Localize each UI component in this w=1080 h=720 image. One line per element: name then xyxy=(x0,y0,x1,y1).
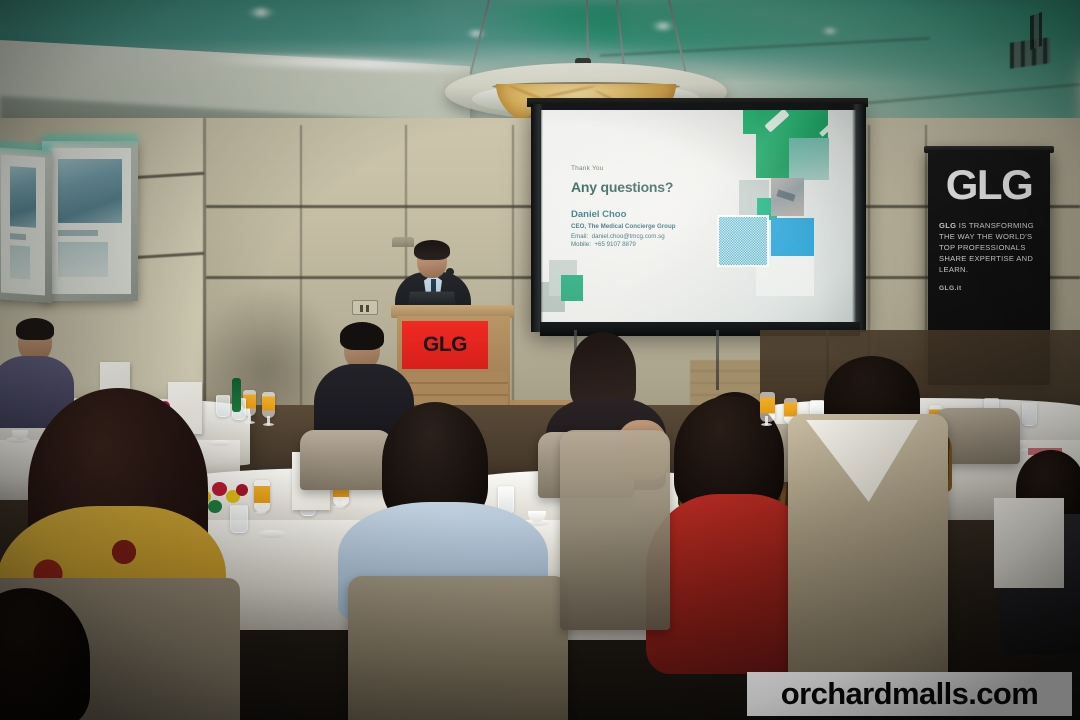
hair xyxy=(16,318,54,340)
art-mat xyxy=(49,148,131,294)
downlight xyxy=(246,8,276,17)
downlight xyxy=(820,28,840,34)
wall-outlet-plate xyxy=(352,300,378,315)
slide-email-label: Email: xyxy=(571,233,588,240)
slide-headline: Any questions? xyxy=(571,179,741,195)
framed-artwork xyxy=(42,141,138,301)
art-text-block xyxy=(58,242,108,277)
chandelier-cable xyxy=(470,0,490,74)
wall-speaker xyxy=(392,237,414,247)
slide-email-row: Email: daniel.choo@tmcg.com.sg xyxy=(571,233,741,240)
slide-photo-instrument xyxy=(771,178,804,216)
speaker-glasses-icon xyxy=(420,257,444,262)
chair-napkin xyxy=(994,498,1064,588)
glg-banner-logo: GLG xyxy=(928,150,1050,206)
banquet-chair-foreground xyxy=(348,576,568,720)
art-mat xyxy=(1,154,45,295)
orange-juice-glass xyxy=(254,480,270,512)
art-text-block xyxy=(10,245,30,279)
glg-tagline-bold: GLG xyxy=(939,221,956,230)
watermark: orchardmalls.com xyxy=(747,672,1072,716)
saucer xyxy=(208,440,232,446)
slide-photo-medical xyxy=(789,138,829,180)
orange-juice-glass xyxy=(760,392,775,422)
slide-mobile-label: Mobile: xyxy=(571,241,591,248)
podium-glg-logo: GLG xyxy=(423,333,467,357)
watermark-text: orchardmalls.com xyxy=(781,676,1038,712)
saucer xyxy=(258,530,286,538)
slide-mobile-value: +65 9107 8879 xyxy=(594,241,635,248)
banquet-chair-foreground xyxy=(560,430,670,630)
art-image xyxy=(58,159,122,223)
framed-artwork xyxy=(0,147,52,303)
air-vent-icon xyxy=(1030,12,1042,50)
slide-block-blue xyxy=(771,218,814,260)
water-glass xyxy=(1022,402,1037,426)
screen-stand-leg xyxy=(716,330,719,390)
screen-left-edge xyxy=(531,104,543,332)
conference-photo: Thank You Any questions? Daniel Choo CEO… xyxy=(0,0,1080,720)
orange-juice-glass xyxy=(262,392,275,418)
art-caption-bar xyxy=(10,233,26,240)
chandelier-cable xyxy=(586,0,589,62)
water-glass xyxy=(216,395,230,417)
chandelier-cable xyxy=(668,0,687,72)
water-glass xyxy=(230,505,248,533)
art-image xyxy=(10,166,36,228)
banquet-chair xyxy=(300,430,392,490)
screen-right-edge xyxy=(852,104,866,332)
art-caption-bar xyxy=(58,230,98,236)
slide-mobile-row: Mobile: +65 9107 8879 xyxy=(571,241,741,248)
slide-thank-you: Thank You xyxy=(571,165,741,172)
slide-block-green xyxy=(561,275,583,301)
wall-joint xyxy=(512,125,514,415)
glg-banner-tagline: GLG IS TRANSFORMING THE WAY THE WORLD'S … xyxy=(928,206,1050,275)
slide-presenter-name: Daniel Choo xyxy=(571,209,741,220)
podium-glg-sign: GLG xyxy=(402,321,488,369)
slide-email-value: daniel.choo@tmcg.com.sg xyxy=(592,233,665,240)
slide-presenter-role: CEO, The Medical Concierge Group xyxy=(571,223,741,230)
hair xyxy=(340,322,384,350)
glg-banner-url: GLG.it xyxy=(928,275,1050,292)
art-top-glow xyxy=(42,135,138,147)
presentation-slide: Thank You Any questions? Daniel Choo CEO… xyxy=(541,110,856,322)
slide-text-block: Thank You Any questions? Daniel Choo CEO… xyxy=(571,165,741,250)
chandelier-cable xyxy=(616,0,626,72)
wine-bottle xyxy=(232,378,241,412)
